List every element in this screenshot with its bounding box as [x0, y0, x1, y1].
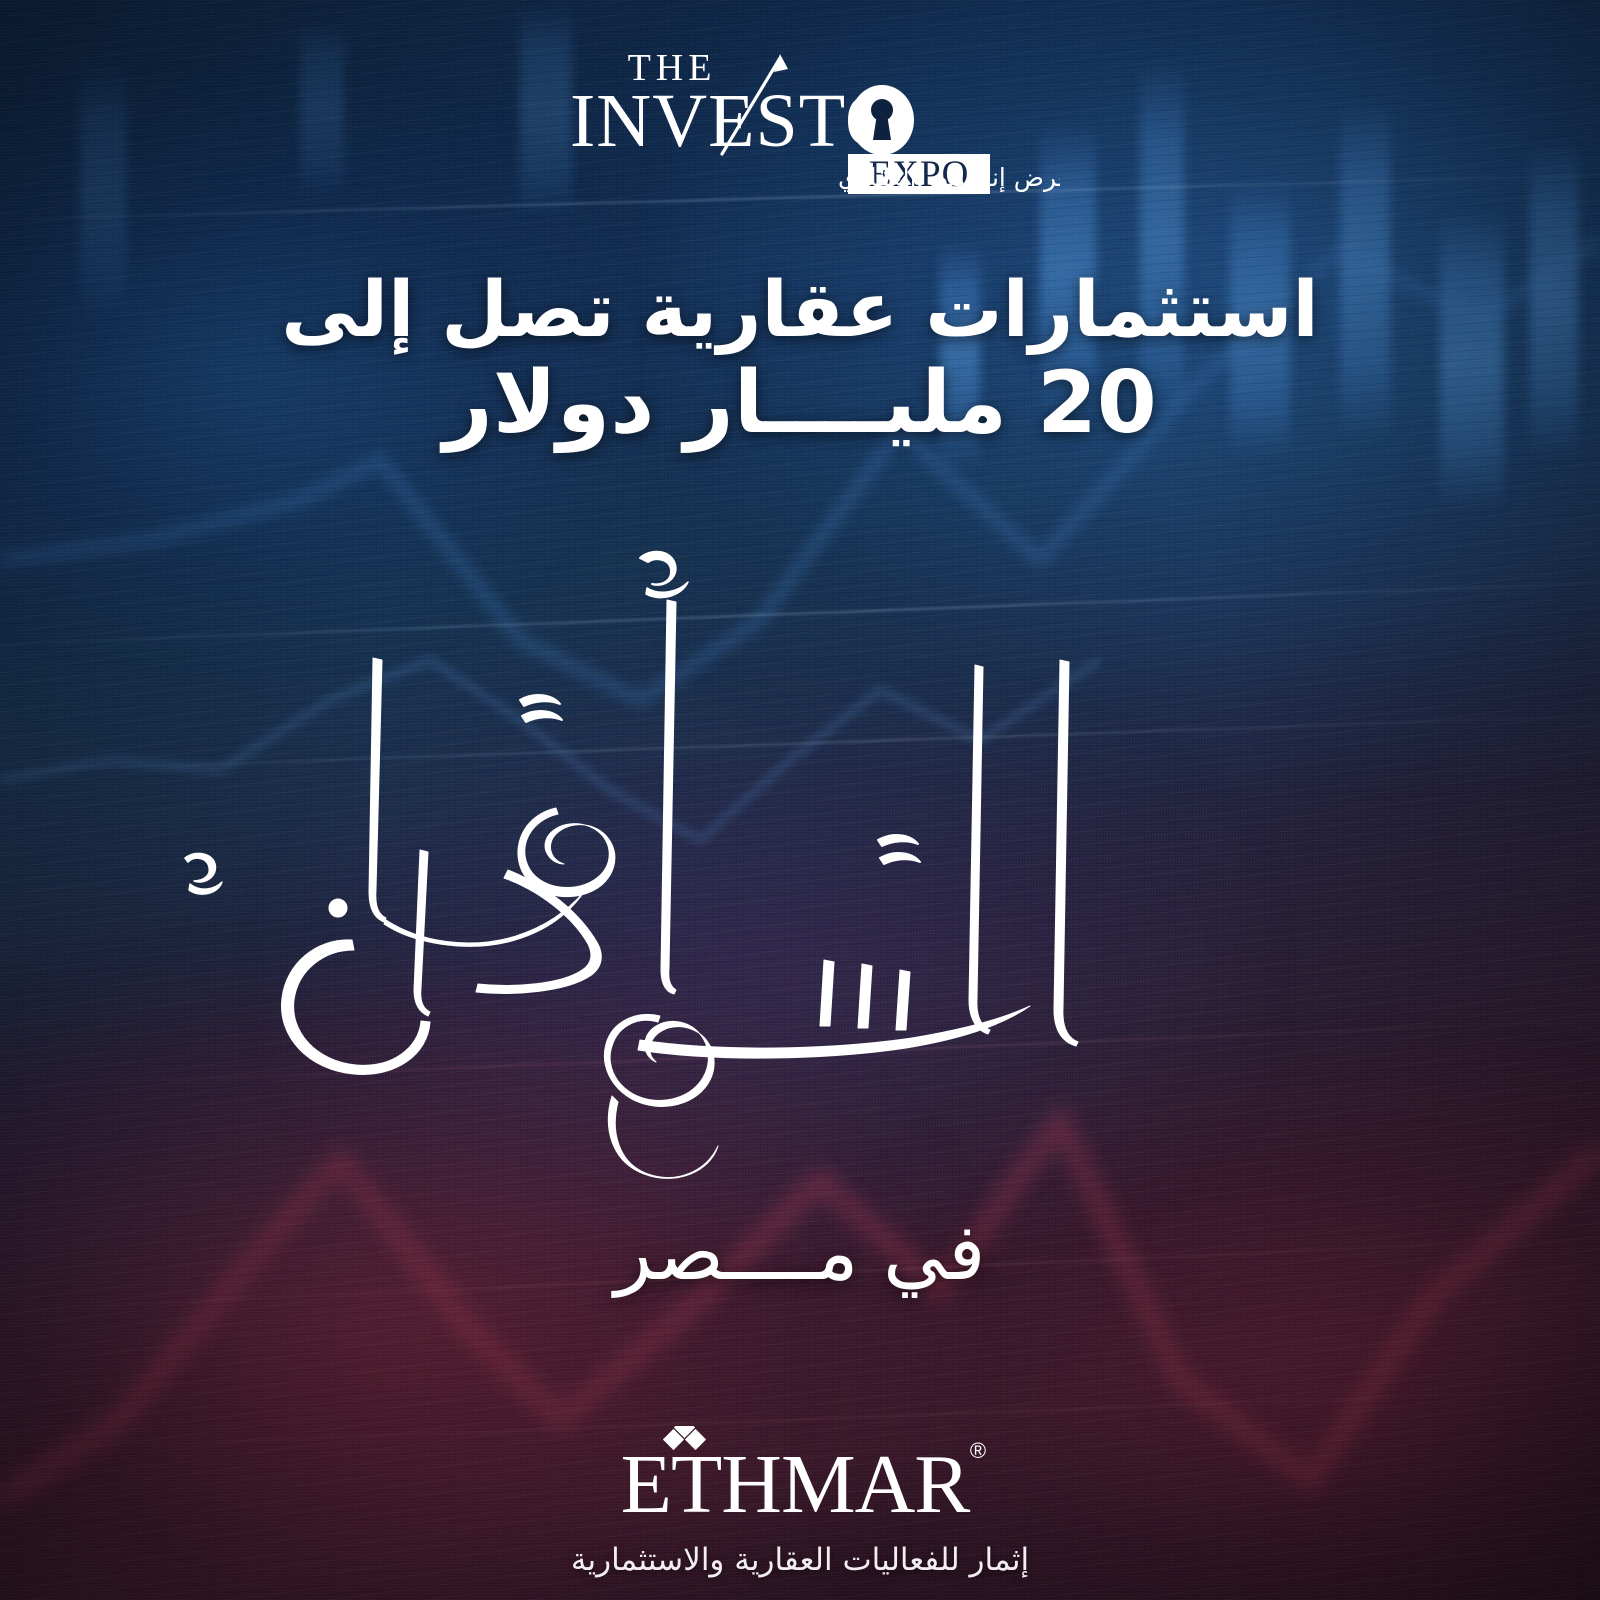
sponsor-logo-wordmark: ETHMAR [621, 1438, 971, 1531]
subtitle-in-egypt: في مــــصر [0, 1208, 1600, 1298]
event-logo-graphic: THE INVESTO [540, 36, 1060, 196]
keyhole-icon [850, 85, 914, 155]
event-logo[interactable]: THE INVESTO [0, 36, 1600, 196]
calligraphy-artwork: أهل السودان [0, 540, 1600, 1200]
headline-line-2: 20 مليــــار دولار [0, 355, 1600, 451]
headline: استثمارات عقارية تصل إلى 20 مليــــار دو… [0, 272, 1600, 451]
headline-line-1: استثمارات عقارية تصل إلى [0, 272, 1600, 351]
sponsor-logo-graphic: ETHMAR ® [570, 1426, 1030, 1538]
sponsor-logo[interactable]: ETHMAR ® إثمار للفعاليات العقارية والاست… [0, 1426, 1600, 1578]
poster-root: THE INVESTO [0, 0, 1600, 1600]
logo-arabic-subtitle: معرض إنفستور العقاري [838, 163, 1060, 193]
sponsor-tagline: إثمار للفعاليات العقارية والاستثمارية [571, 1542, 1029, 1578]
registered-trademark-icon: ® [970, 1438, 986, 1463]
